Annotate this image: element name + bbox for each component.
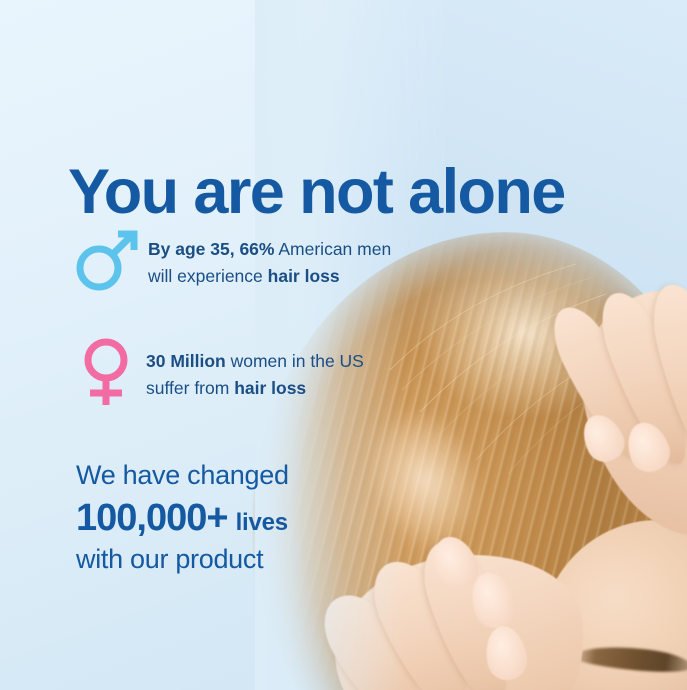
stat-men-rest-1: American men	[274, 239, 391, 259]
stat-women-rest-2: suffer from	[146, 378, 234, 398]
lives-count: 100,000+	[76, 497, 228, 539]
stat-row-men: By age 35, 66% American men will experie…	[66, 224, 391, 294]
stat-men-bold-tail: hair loss	[268, 266, 340, 286]
stat-women-rest-1: women in the US	[226, 351, 364, 371]
female-gender-icon	[66, 334, 146, 408]
closing-claim: We have changed 100,000+lives with our p…	[76, 458, 289, 576]
closing-line-3: with our product	[76, 542, 289, 577]
stat-text-women: 30 Million women in the US suffer from h…	[146, 334, 364, 402]
stat-men-rest-2: will experience	[148, 266, 268, 286]
stat-women-bold-lead: 30 Million	[146, 351, 226, 371]
stat-text-men: By age 35, 66% American men will experie…	[148, 224, 391, 290]
male-gender-icon	[66, 224, 148, 294]
lives-label: lives	[236, 509, 288, 536]
stat-women-bold-tail: hair loss	[234, 378, 306, 398]
stat-men-bold-lead: By age 35, 66%	[148, 239, 274, 259]
closing-line-1: We have changed	[76, 458, 289, 493]
stat-row-women: 30 Million women in the US suffer from h…	[66, 334, 364, 408]
page-title: You are not alone	[68, 161, 565, 224]
promo-card: You are not alone By age 35, 66% America…	[0, 0, 687, 690]
closing-line-2: 100,000+lives	[76, 495, 289, 541]
